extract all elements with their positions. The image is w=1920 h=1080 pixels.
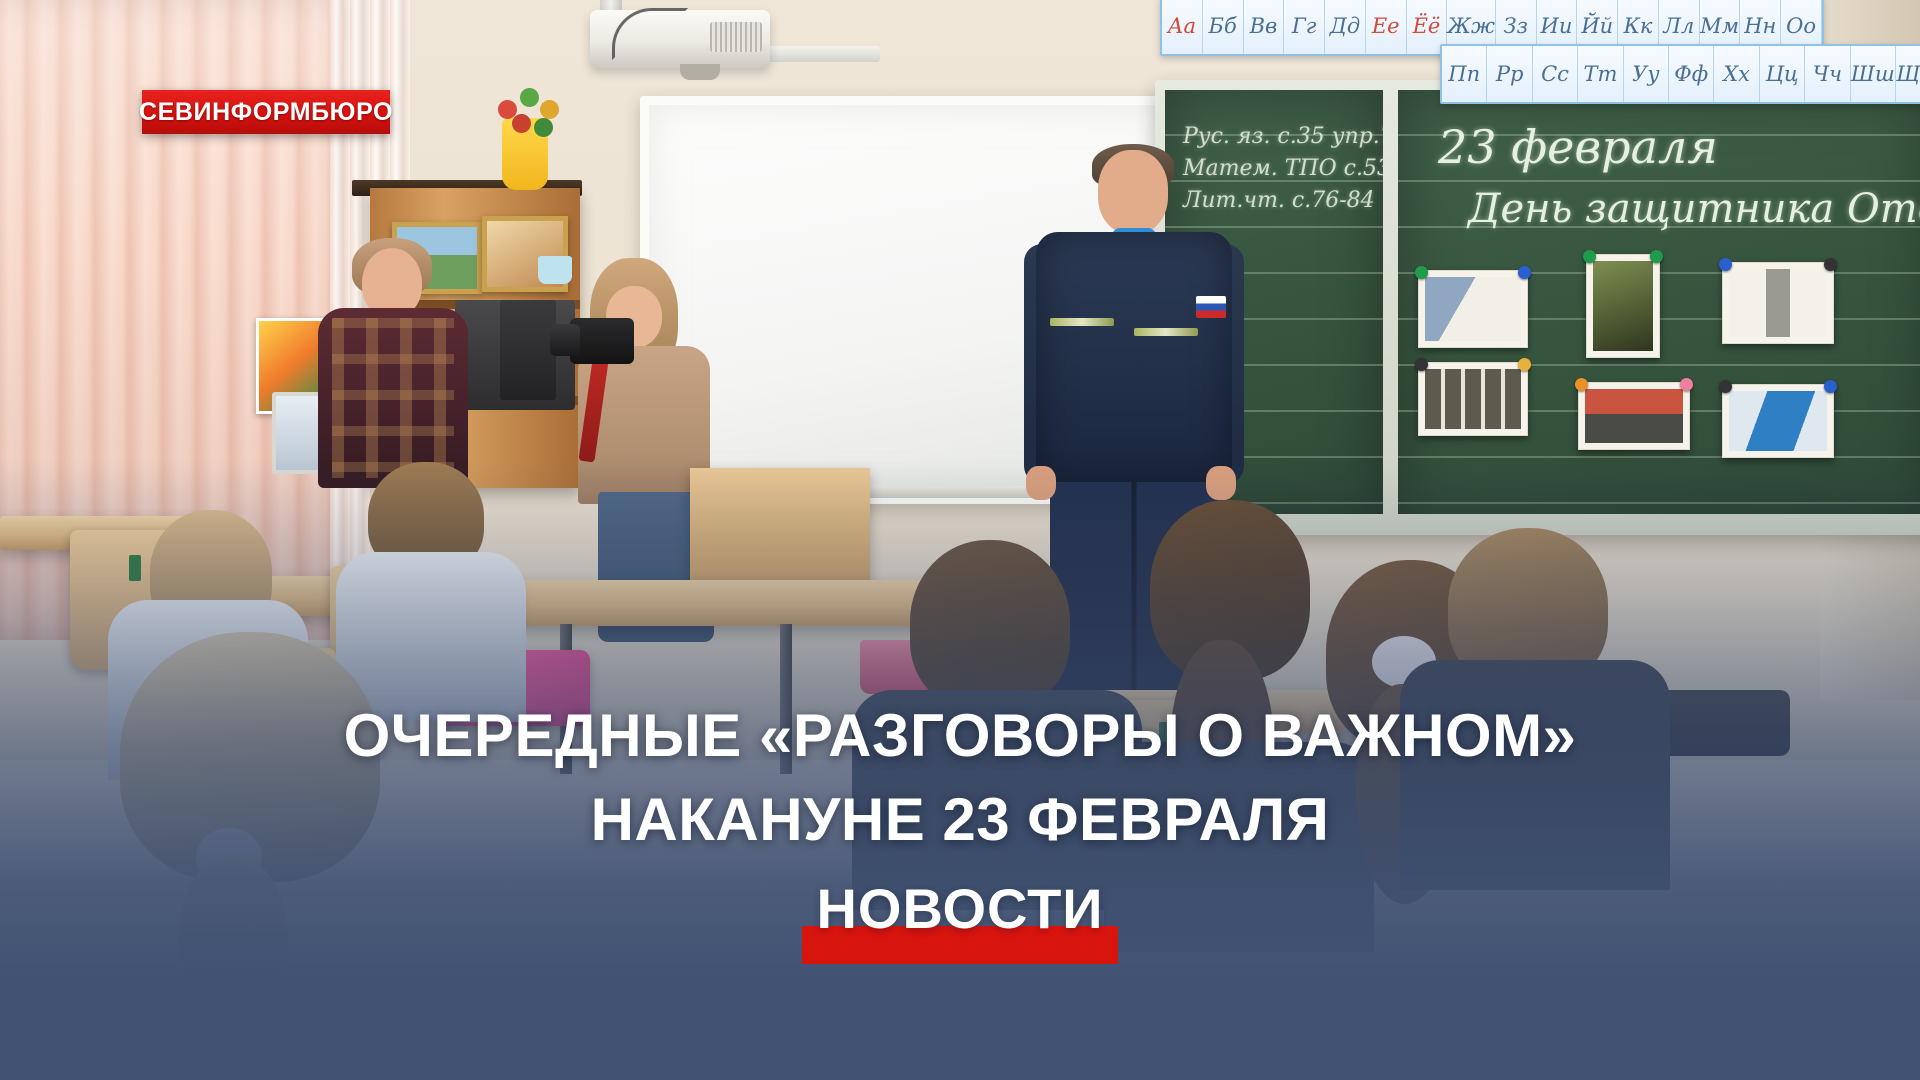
soldier-hand-right: [1206, 466, 1236, 500]
board-card: [1722, 384, 1834, 458]
alphabet-cell: Шш: [1851, 46, 1896, 102]
chalkboard-subheading: День защитника Отечества: [1468, 186, 1920, 232]
board-card: [1722, 262, 1834, 344]
alphabet-cell: Чч: [1805, 46, 1850, 102]
pushpin: [1518, 266, 1531, 279]
projector-lens: [680, 64, 720, 80]
homework-note-2: Матем. ТПО с.53: [1183, 156, 1383, 181]
alphabet-cell: Рр: [1487, 46, 1532, 102]
alphabet-cell: Аа: [1162, 0, 1203, 54]
pushpin: [1824, 380, 1837, 393]
alphabet-cell: Фф: [1669, 46, 1714, 102]
chalkboard-heading: 23 февраля: [1438, 120, 1718, 174]
pushpin: [1575, 378, 1588, 391]
soldier-head: [1098, 150, 1168, 234]
board-card-image: [1593, 261, 1653, 351]
pupil-hair: [910, 540, 1070, 710]
board-card-image: [1425, 277, 1521, 341]
pushpin: [1518, 358, 1531, 371]
teacher-body: [318, 308, 468, 488]
board-card-image: [1729, 391, 1827, 451]
flower-bloom: [512, 114, 531, 133]
board-card: [1418, 362, 1528, 436]
alphabet-cell: Бб: [1203, 0, 1244, 54]
alphabet-cell: Хх: [1714, 46, 1759, 102]
flower-bloom: [520, 88, 539, 107]
pupil-jacket: [852, 690, 1142, 910]
board-card: [1586, 254, 1660, 358]
alphabet-cell: Гг: [1284, 0, 1325, 54]
alphabet-cell: Цц: [1760, 46, 1805, 102]
alphabet-cell: Дд: [1325, 0, 1366, 54]
board-card-image: [1585, 389, 1683, 443]
pupil-jacket: [1400, 660, 1670, 890]
soldier-pocket-flap: [1050, 318, 1114, 326]
alphabet-cell: Уу: [1624, 46, 1669, 102]
pushpin: [1415, 358, 1428, 371]
chalkboard: Рус. яз. с.35 упр.75 Матем. ТПО с.53 Лит…: [1155, 80, 1920, 535]
flower-bloom: [540, 100, 559, 119]
pushpin: [1415, 266, 1428, 279]
board-card-image: [1729, 269, 1827, 337]
channel-logo-badge: СЕВИНФОРМБЮРО: [142, 90, 390, 134]
school-desk: [500, 580, 970, 626]
board-card: [1418, 270, 1528, 348]
alphabet-cell: Щщ: [1896, 46, 1920, 102]
board-card-image: [1425, 369, 1521, 429]
soldier-uniform-jacket: [1036, 232, 1232, 482]
camera: [570, 318, 634, 364]
alphabet-cell: Ее: [1366, 0, 1407, 54]
pushpin: [1650, 250, 1663, 263]
homework-note-3: Лит.чт. с.76-84: [1183, 188, 1375, 213]
flower-bloom: [534, 118, 553, 137]
cyrillic-alphabet-chart-2: Пп Рр Сс Тт Уу Фф Хх Цц Чч Шш Щщ: [1440, 44, 1920, 104]
pushpin: [1824, 258, 1837, 271]
pushpin: [1680, 378, 1693, 391]
channel-logo-text: СЕВИНФОРМБЮРО: [139, 98, 393, 127]
cup: [538, 256, 572, 284]
pushpin: [1719, 380, 1732, 393]
soldier-hand-left: [1026, 466, 1056, 500]
homework-note-1: Рус. яз. с.35 упр.75: [1183, 124, 1383, 149]
alphabet-cell: Сс: [1533, 46, 1578, 102]
pushpin: [1583, 250, 1596, 263]
russian-flag-patch: [1196, 296, 1226, 318]
chalkboard-panel-right: 23 февраля День защитника Отечества: [1398, 90, 1920, 514]
alphabet-cell: Тт: [1578, 46, 1623, 102]
pushpin: [1719, 258, 1732, 271]
soldier-pocket-flap: [1134, 328, 1198, 336]
classroom-photo: Рус. яз. с.35 упр.75 Матем. ТПО с.53 Лит…: [0, 0, 1920, 1080]
pupil-ponytail: [178, 856, 288, 1046]
alphabet-cell: Вв: [1244, 0, 1285, 54]
low-cabinet: [690, 468, 870, 598]
pupil-jacket: [1104, 742, 1374, 952]
broadcast-frame: Рус. яз. с.35 упр.75 Матем. ТПО с.53 Лит…: [0, 0, 1920, 1080]
alphabet-cell: Пп: [1442, 46, 1487, 102]
desk-leg: [780, 624, 792, 774]
speaker: [500, 300, 556, 400]
board-card: [1578, 382, 1690, 450]
